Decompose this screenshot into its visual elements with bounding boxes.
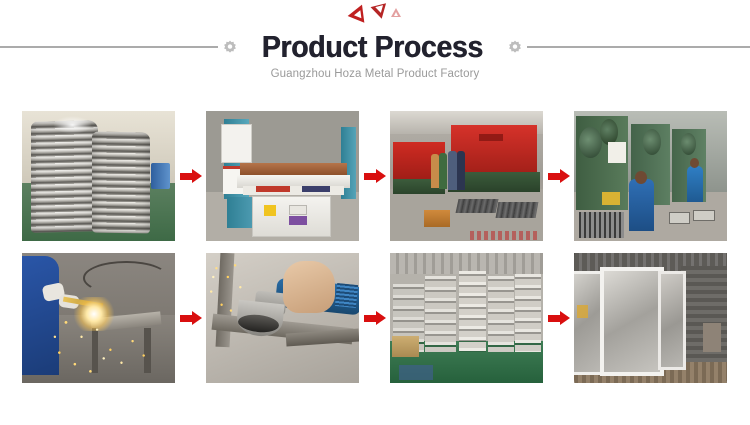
photo-container-loading [574,253,727,383]
brand-logo-bar [0,2,750,26]
process-arrow-5 [359,253,390,383]
arrow-right-icon [180,169,202,183]
process-step-6[interactable] [206,253,359,383]
process-arrow-1 [175,111,206,241]
arrow-right-icon [364,169,386,183]
process-step-8[interactable] [574,253,727,383]
process-step-4[interactable] [574,111,727,241]
process-arrow-3 [543,111,574,241]
process-row-2 [0,247,750,389]
process-step-3[interactable] [390,111,543,241]
gear-icon [222,39,238,55]
header-rule-right [527,46,750,48]
gear-icon [507,39,523,55]
photo-grinding-polishing [206,253,359,383]
arrow-right-icon [180,311,202,325]
process-arrow-4 [175,253,206,383]
process-step-5[interactable] [22,253,175,383]
process-arrow-6 [543,253,574,383]
photo-punch-press-operation [574,111,727,241]
header-rule-left [0,46,218,48]
photo-cutting-machine [206,111,359,241]
triangle-small-cutout [394,12,398,16]
photo-welding [22,253,175,383]
arrow-right-icon [548,311,570,325]
arrow-right-icon [548,169,570,183]
process-arrow-2 [359,111,390,241]
arrow-right-icon [364,311,386,325]
process-row-1 [0,105,750,247]
process-step-2[interactable] [206,111,359,241]
process-step-1[interactable] [22,111,175,241]
photo-raw-material-tube-frames [22,111,175,241]
process-steps-grid [0,105,750,389]
hoza-triangles-logo [344,2,406,24]
photo-finished-frames-warehouse [390,253,543,383]
page-title: Product Process [253,29,493,65]
page-subtitle: Guangzhou Hoza Metal Product Factory [0,68,750,80]
photo-press-brake-line [390,111,543,241]
process-step-7[interactable] [390,253,543,383]
page-header: Product Process [0,28,750,66]
